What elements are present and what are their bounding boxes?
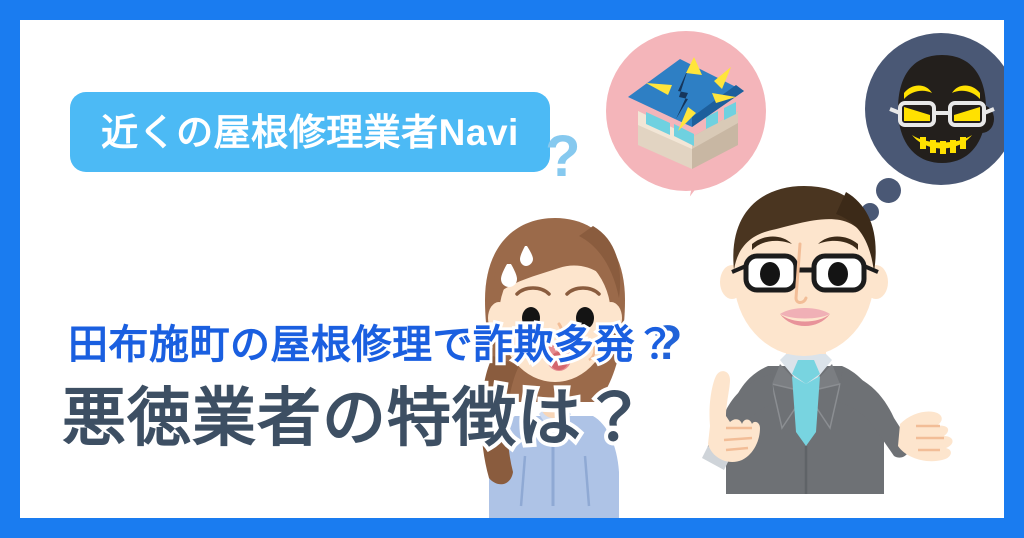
site-name-badge[interactable]: 近くの屋根修理業者Navi xyxy=(70,92,550,172)
question-mark-light-icon: ? xyxy=(545,128,580,186)
scammer-face-icon xyxy=(886,53,998,173)
damaged-house-speech-bubble xyxy=(606,31,766,191)
headline-subtitle: 田布施町の屋根修理で詐欺多発？ xyxy=(68,322,676,368)
headline-title: 悪徳業者の特徴は？ xyxy=(62,380,647,457)
explaining-businessman-illustration xyxy=(668,178,968,518)
banner-inner-canvas: 近くの屋根修理業者Navi ? ? xyxy=(20,20,1004,518)
banner: 近くの屋根修理業者Navi ? ? xyxy=(0,0,1024,538)
damaged-house-icon xyxy=(618,49,754,175)
site-name-badge-label: 近くの屋根修理業者Navi xyxy=(101,114,519,151)
